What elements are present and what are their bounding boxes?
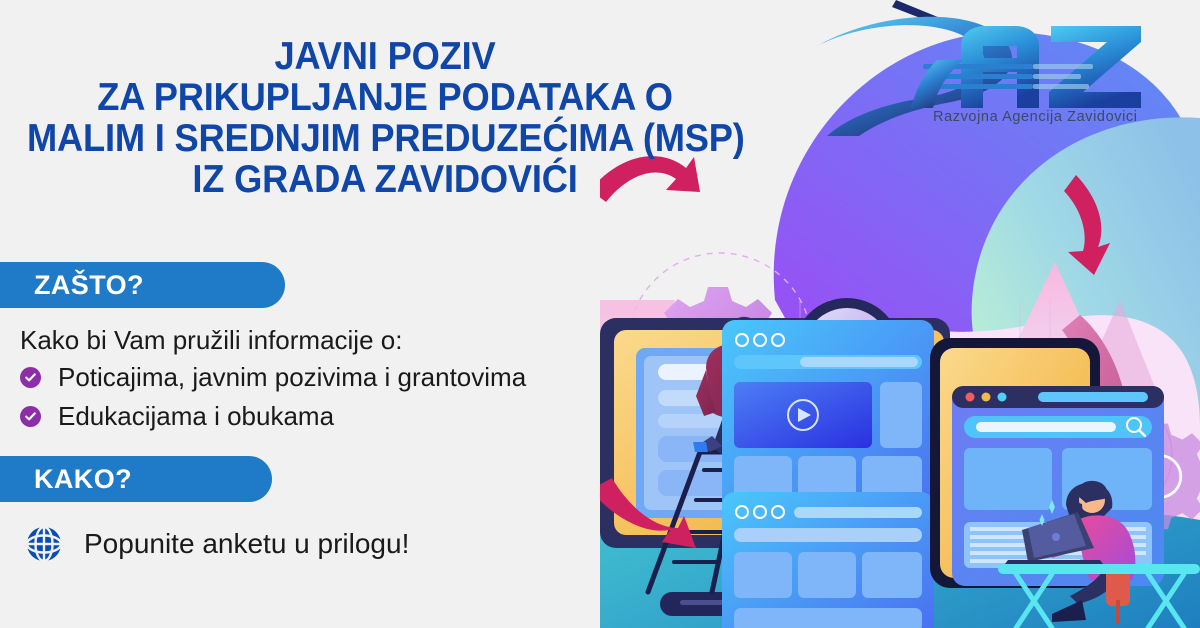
list-item-label: Poticajima, javnim pozivima i grantovima: [58, 362, 526, 393]
title-line-3: MALIM I SREDNJIM PREDUZEĆIMA (MSP): [27, 118, 743, 159]
section-badge-how: KAKO?: [0, 456, 272, 502]
list-item-label: Edukacijama i obukama: [58, 401, 334, 432]
how-instruction-row: Popunite anketu u prilogu!: [24, 524, 409, 564]
how-instruction-text: Popunite anketu u prilogu!: [84, 528, 409, 560]
check-circle-icon: [20, 406, 41, 427]
logo-tagline: Razvojna Agencija Zavidovici: [933, 109, 1183, 125]
section-badge-why: ZAŠTO?: [0, 262, 285, 308]
check-circle-icon: [20, 367, 41, 388]
poster-root: Razvojna Agencija Zavidovici JAVNI POZIV…: [0, 0, 1200, 628]
raz-logo: Razvojna Agencija Zavidovici: [815, 12, 1185, 137]
why-lead-text: Kako bi Vam pružili informacije o:: [20, 325, 402, 356]
globe-icon: [24, 524, 64, 564]
list-item: Edukacijama i obukama: [20, 399, 526, 433]
search-input: [964, 416, 1152, 438]
page-title: JAVNI POZIV ZA PRIKUPLJANJE PODATAKA O M…: [27, 36, 743, 200]
browser-window-bottom: [722, 492, 934, 628]
title-line-4: IZ GRADA ZAVIDOVIĆI: [27, 159, 743, 200]
title-line-2: ZA PRIKUPLJANJE PODATAKA O: [27, 77, 743, 118]
title-line-1: JAVNI POZIV: [27, 36, 743, 77]
why-bullet-list: Poticajima, javnim pozivima i grantovima…: [20, 360, 526, 438]
list-item: Poticajima, javnim pozivima i grantovima: [20, 360, 526, 394]
